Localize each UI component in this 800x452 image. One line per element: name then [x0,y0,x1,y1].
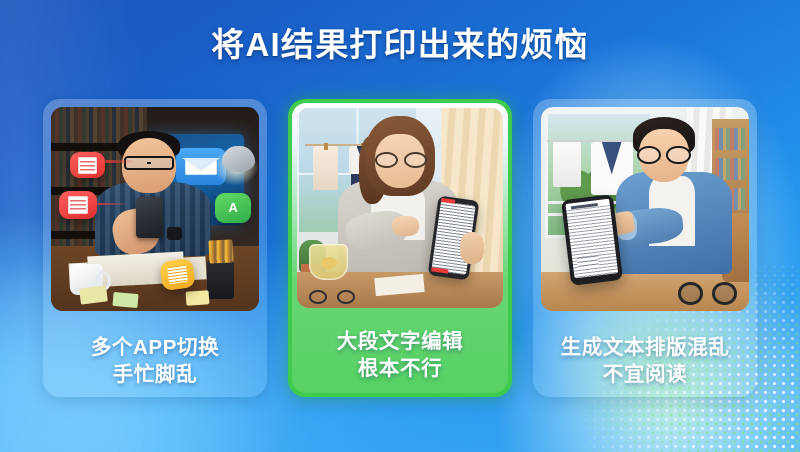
motion-trail [97,203,130,206]
card-caption-messy-layout: 生成文本排版混乱 不宜阅读 [541,334,749,388]
caption-line-1: 生成文本排版混乱 [541,334,749,361]
desk-lamp-icon [222,146,255,173]
card-inner: A 多个APP切换 手忙脚乱 [51,107,259,397]
tea-cup-icon [309,244,348,280]
card-inner: 生成文本排版混乱 不宜阅读 [541,107,749,397]
page-title: 将AI结果打印出来的烦恼 [0,18,800,66]
eyeglasses-icon [678,282,736,304]
phone-screen-document [565,199,619,278]
caption-line-2: 根本不行 [297,355,503,382]
sticky-note [186,290,210,306]
phone-icon [136,197,163,238]
pen-holder-icon [207,260,234,299]
yellow-note-icon [159,258,196,291]
sticky-note [79,285,108,304]
eyeglasses-icon [309,290,354,304]
card-app-switching[interactable]: A 多个APP切换 手忙脚乱 [43,99,267,397]
card-inner: 大段文字编辑 根本不行 [292,103,508,393]
red-document-icon [70,152,105,179]
card-illustration-text-editing [297,108,503,308]
slide-canvas: 将AI结果打印出来的烦恼 [0,0,800,452]
card-illustration-messy-layout [541,107,749,311]
hanging-towel [553,142,580,187]
person-holding-hand [460,232,485,264]
sticky-note [113,292,139,308]
watch-icon [167,227,182,239]
green-translate-icon: A [215,193,250,224]
card-illustration-app-switching: A [51,107,259,311]
card-caption-app-switching: 多个APP切换 手忙脚乱 [51,334,259,388]
hanging-towel [313,146,338,190]
card-row: A 多个APP切换 手忙脚乱 [43,99,757,397]
eyeglasses-icon [124,156,174,170]
scene-man-pointing-phone [541,107,749,311]
red-document-icon [59,191,96,220]
caption-line-2: 手忙脚乱 [51,361,259,388]
card-caption-text-editing: 大段文字编辑 根本不行 [297,328,503,382]
eyeglasses-icon [375,152,427,168]
caption-line-2: 不宜阅读 [541,361,749,388]
scene-woman-reading-phone [297,108,503,308]
motion-trail [105,160,134,163]
person-pointing-hand [392,216,419,236]
eyeglasses-icon [637,146,691,164]
scene-man-at-desk: A [51,107,259,311]
card-messy-layout[interactable]: 生成文本排版混乱 不宜阅读 [533,99,757,397]
caption-line-1: 大段文字编辑 [297,328,503,355]
phone-icon [561,194,623,285]
card-text-editing[interactable]: 大段文字编辑 根本不行 [288,99,512,397]
caption-line-1: 多个APP切换 [51,334,259,361]
